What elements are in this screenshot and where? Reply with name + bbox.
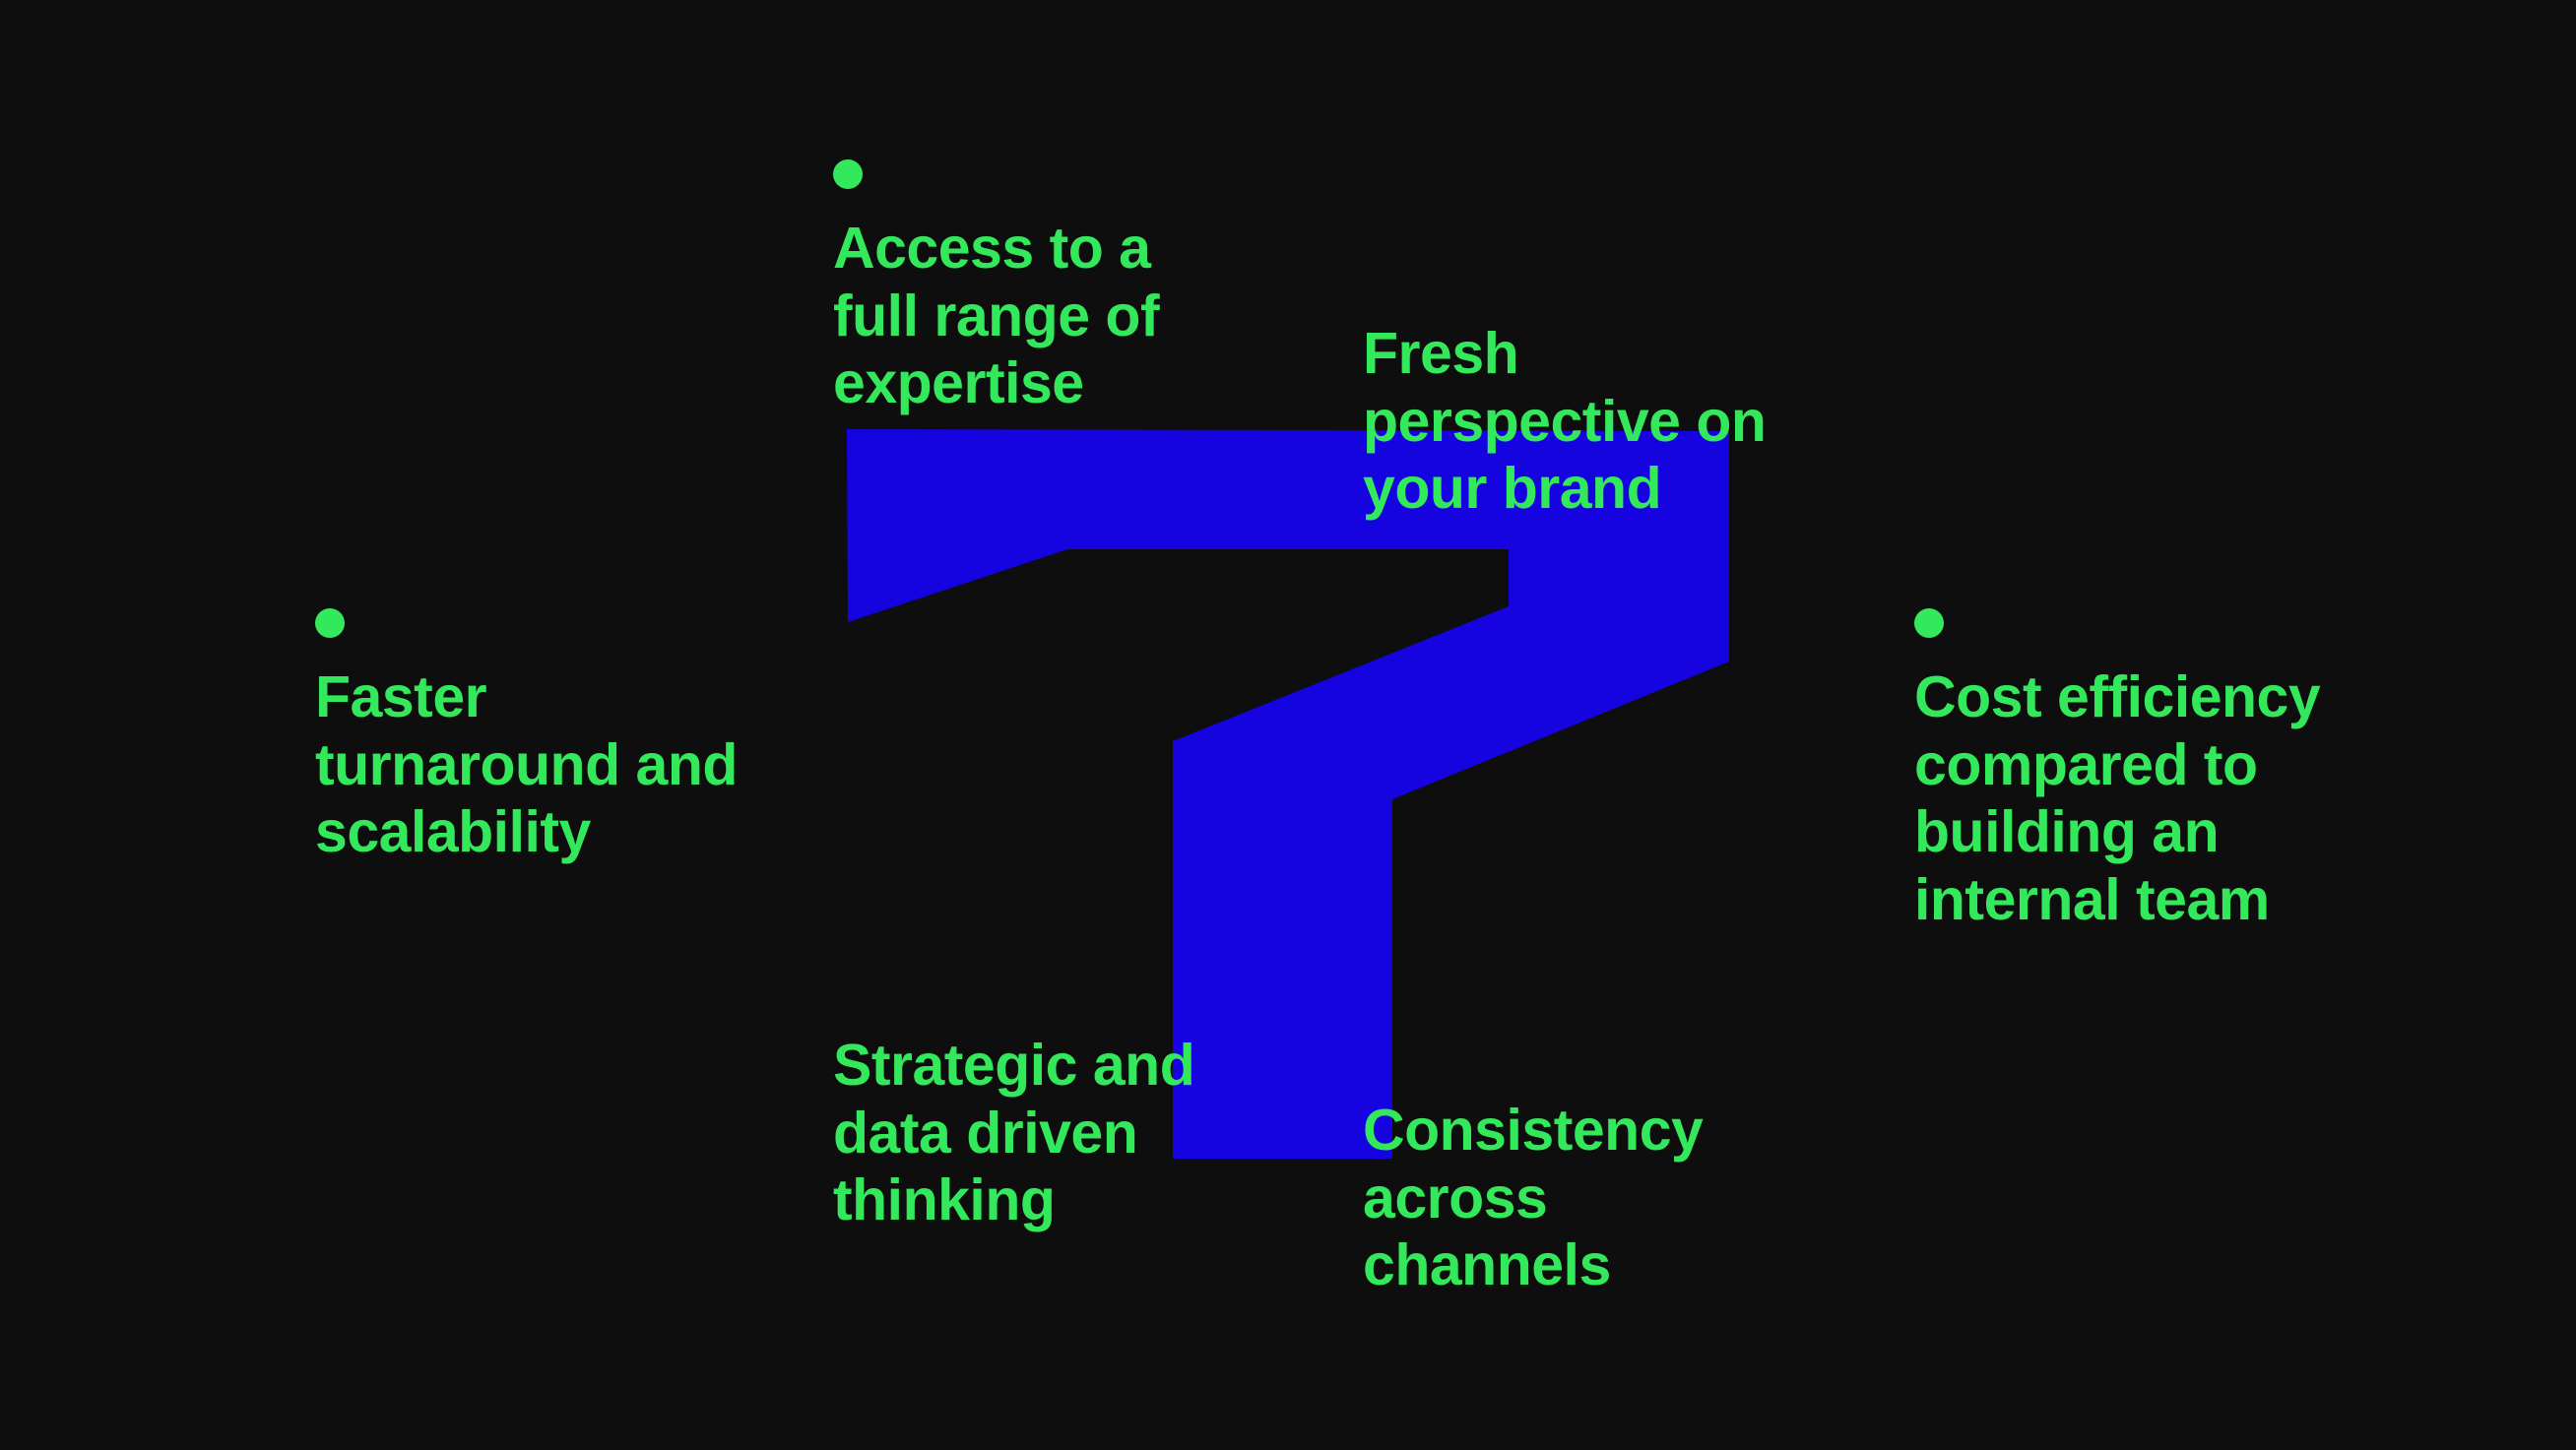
callout-strategic-thinking: Strategic and data driven thinking	[833, 1032, 1256, 1234]
callout-label-strategic-thinking: Strategic and data driven thinking	[833, 1032, 1256, 1234]
callout-cost-efficiency: Cost efficiency compared to building an …	[1914, 608, 2377, 934]
callout-label-faster-turnaround: Faster turnaround and scalability	[315, 663, 778, 866]
callout-consistency: Consistency across channels	[1363, 1041, 1757, 1299]
callout-access: Access to a full range of expertise	[833, 159, 1286, 417]
callout-label-access: Access to a full range of expertise	[833, 215, 1286, 417]
callout-fresh-perspective: Fresh perspective on your brand	[1363, 320, 1826, 523]
bullet-dot-access	[833, 159, 863, 189]
callout-label-cost-efficiency: Cost efficiency compared to building an …	[1914, 663, 2377, 934]
callout-faster-turnaround: Faster turnaround and scalability	[315, 608, 778, 866]
bullet-dot-faster	[315, 608, 345, 638]
callout-label-consistency: Consistency across channels	[1363, 1097, 1757, 1299]
slide-canvas: Access to a full range of expertise Fres…	[0, 0, 2576, 1450]
bullet-dot-cost	[1914, 608, 1944, 638]
callout-label-fresh-perspective: Fresh perspective on your brand	[1363, 320, 1826, 523]
